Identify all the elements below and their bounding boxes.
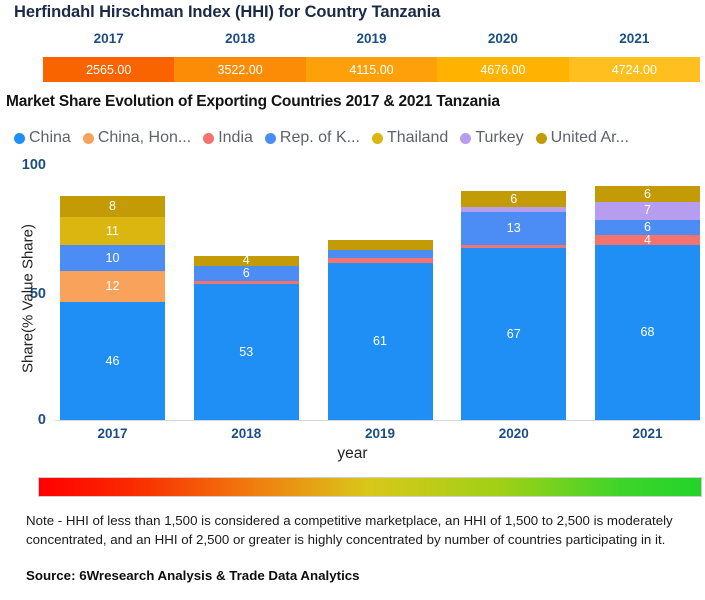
hhi-value-bar: 2565.003522.004115.004676.004724.00 bbox=[43, 57, 700, 82]
bar-segment-label: 67 bbox=[507, 328, 521, 341]
bar-segment[interactable]: 8 bbox=[60, 196, 165, 217]
bar-segment-label: 6 bbox=[644, 188, 651, 201]
bar-segment-label: 13 bbox=[507, 222, 521, 235]
bar-segment[interactable]: 13 bbox=[461, 212, 566, 245]
bar-segment[interactable]: 4 bbox=[194, 256, 299, 266]
x-axis-line bbox=[55, 420, 700, 421]
bar-segment-label: 12 bbox=[106, 280, 120, 293]
legend-label: China, Hon... bbox=[98, 129, 191, 147]
bar-segment-label: 7 bbox=[644, 204, 651, 217]
bar-column-2019: 612019 bbox=[328, 150, 433, 420]
x-axis-tick-2019: 2019 bbox=[328, 426, 433, 441]
bar-segment[interactable]: 12 bbox=[60, 271, 165, 302]
bar-segment[interactable] bbox=[328, 240, 433, 250]
x-axis-tick-2018: 2018 bbox=[194, 426, 299, 441]
legend-dot-icon bbox=[536, 133, 547, 144]
hhi-value-cell-2018: 3522.00 bbox=[174, 57, 305, 82]
legend-dot-icon bbox=[460, 133, 471, 144]
hhi-year-label-2019: 2019 bbox=[306, 31, 437, 49]
bar-segment[interactable]: 6 bbox=[595, 186, 700, 201]
hhi-gradient-scale bbox=[38, 477, 702, 497]
bar-segment[interactable]: 68 bbox=[595, 245, 700, 420]
bar-segment-label: 6 bbox=[243, 267, 250, 280]
bar-segment-label: 53 bbox=[239, 346, 253, 359]
bar-segment-label: 6 bbox=[510, 193, 517, 206]
footer-source: Source: 6Wresearch Analysis & Trade Data… bbox=[26, 568, 691, 583]
chart-legend: ChinaChina, Hon...IndiaRep. of K...Thail… bbox=[14, 126, 704, 150]
bar-segment[interactable]: 11 bbox=[60, 217, 165, 245]
bar-segment[interactable]: 4 bbox=[595, 235, 700, 245]
hhi-year-label-2017: 2017 bbox=[43, 31, 174, 49]
bar-segment[interactable]: 10 bbox=[60, 245, 165, 271]
stacked-bar: 684676 bbox=[595, 186, 700, 420]
legend-label: Turkey bbox=[475, 129, 523, 147]
legend-dot-icon bbox=[372, 133, 383, 144]
legend-label: India bbox=[218, 129, 253, 147]
legend-item-rep-of-k[interactable]: Rep. of K... bbox=[265, 129, 360, 147]
bar-group: 4612101182017536420186120196713620206846… bbox=[60, 150, 700, 420]
hhi-year-label-2020: 2020 bbox=[437, 31, 568, 49]
bar-column-2018: 53642018 bbox=[194, 150, 299, 420]
legend-dot-icon bbox=[203, 133, 214, 144]
market-share-title: Market Share Evolution of Exporting Coun… bbox=[6, 93, 500, 111]
legend-item-turkey[interactable]: Turkey bbox=[460, 129, 523, 147]
bar-segment[interactable]: 53 bbox=[194, 284, 299, 420]
bar-segment-label: 4 bbox=[243, 256, 250, 266]
hhi-value-cell-2019: 4115.00 bbox=[306, 57, 437, 82]
legend-label: United Ar... bbox=[551, 129, 629, 147]
legend-item-india[interactable]: India bbox=[203, 129, 253, 147]
bar-segment[interactable]: 7 bbox=[595, 202, 700, 220]
legend-item-china-hon[interactable]: China, Hon... bbox=[83, 129, 191, 147]
footer-note: Note - HHI of less than 1,500 is conside… bbox=[26, 512, 691, 550]
x-axis-title: year bbox=[0, 445, 705, 463]
bar-segment[interactable]: 6 bbox=[461, 191, 566, 206]
legend-dot-icon bbox=[265, 133, 276, 144]
bar-segment-label: 11 bbox=[106, 225, 119, 238]
bar-segment-label: 6 bbox=[644, 221, 651, 234]
x-axis-tick-2021: 2021 bbox=[595, 426, 700, 441]
bar-segment-label: 8 bbox=[109, 200, 116, 213]
hhi-year-label-2018: 2018 bbox=[174, 31, 305, 49]
x-axis-tick-2017: 2017 bbox=[60, 426, 165, 441]
hhi-value-cell-2020: 4676.00 bbox=[437, 57, 568, 82]
legend-dot-icon bbox=[14, 133, 25, 144]
hhi-title: Herfindahl Hirschman Index (HHI) for Cou… bbox=[14, 3, 440, 22]
bar-segment[interactable]: 6 bbox=[595, 220, 700, 235]
hhi-year-label-2021: 2021 bbox=[569, 31, 700, 49]
legend-item-united-ar[interactable]: United Ar... bbox=[536, 129, 629, 147]
y-axis-title: Share(% Value Share) bbox=[20, 179, 37, 419]
stacked-bar: 461210118 bbox=[60, 196, 165, 420]
bar-segment[interactable]: 61 bbox=[328, 263, 433, 420]
bar-column-2021: 6846762021 bbox=[595, 150, 700, 420]
x-axis-tick-2020: 2020 bbox=[461, 426, 566, 441]
stacked-bar: 67136 bbox=[461, 191, 566, 420]
bar-segment-label: 4 bbox=[644, 235, 651, 245]
hhi-year-header: 20172018201920202021 bbox=[43, 31, 700, 49]
bar-segment[interactable]: 46 bbox=[60, 302, 165, 420]
bar-segment-label: 68 bbox=[641, 326, 655, 339]
stacked-bar: 61 bbox=[328, 240, 433, 420]
bar-segment-label: 61 bbox=[373, 335, 387, 348]
bar-segment-label: 46 bbox=[106, 355, 120, 368]
stacked-bar-chart: 100 50 0 Share(% Value Share) 4612101182… bbox=[0, 150, 705, 440]
bar-segment[interactable] bbox=[328, 250, 433, 258]
stacked-bar: 5364 bbox=[194, 256, 299, 420]
y-axis-tick-100: 100 bbox=[0, 157, 46, 173]
legend-label: Thailand bbox=[387, 129, 448, 147]
bar-segment[interactable]: 67 bbox=[461, 248, 566, 420]
legend-item-china[interactable]: China bbox=[14, 129, 71, 147]
bar-column-2017: 4612101182017 bbox=[60, 150, 165, 420]
bar-segment[interactable]: 6 bbox=[194, 266, 299, 281]
legend-label: China bbox=[29, 129, 71, 147]
bar-column-2020: 671362020 bbox=[461, 150, 566, 420]
bar-segment-label: 10 bbox=[106, 252, 120, 265]
hhi-value-cell-2021: 4724.00 bbox=[569, 57, 700, 82]
legend-label: Rep. of K... bbox=[280, 129, 360, 147]
legend-dot-icon bbox=[83, 133, 94, 144]
hhi-value-cell-2017: 2565.00 bbox=[43, 57, 174, 82]
legend-item-thailand[interactable]: Thailand bbox=[372, 129, 448, 147]
